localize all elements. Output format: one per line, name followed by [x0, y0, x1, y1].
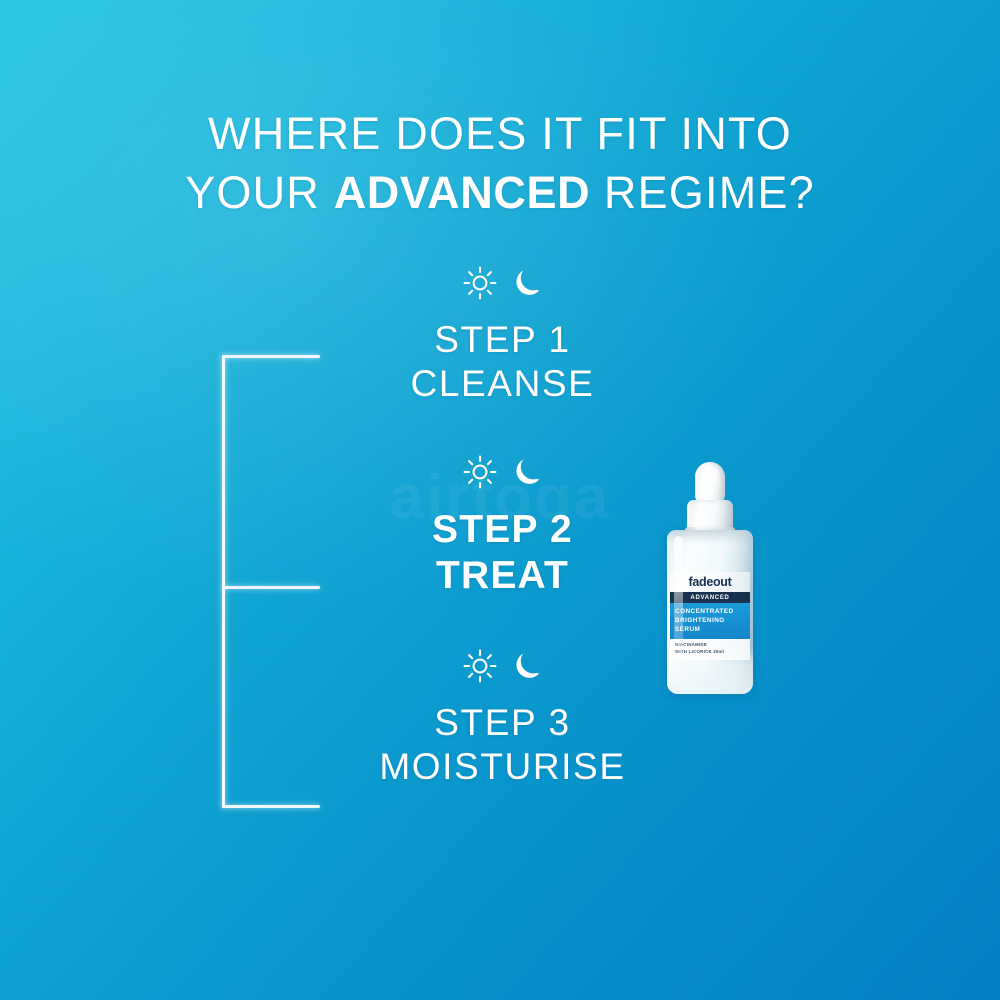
regime-step-treat: STEP 2 TREAT: [330, 449, 675, 599]
product-name-line-2: BRIGHTENING: [675, 616, 745, 625]
product-volume: WITH LICORICE 30ml: [675, 649, 745, 656]
step-2-label: STEP 2 TREAT: [330, 507, 675, 599]
product-bottle: fadeout ADVANCED CONCENTRATED BRIGHTENIN…: [662, 462, 758, 694]
step-2-icons: [330, 449, 675, 495]
product-ingredient: NIACINAMIDE: [675, 642, 745, 649]
moon-icon: [513, 650, 543, 682]
regime-step-moisturise: STEP 3 MOISTURISE: [330, 643, 675, 788]
headline-line-2-before: YOUR: [185, 167, 334, 218]
step-3-name: MOISTURISE: [330, 745, 675, 789]
moon-icon: [513, 267, 543, 299]
step-3-label: STEP 3 MOISTURISE: [330, 701, 675, 788]
product-range-band: ADVANCED: [670, 592, 750, 603]
step-1-icons: [330, 260, 675, 306]
headline-emphasis: ADVANCED: [334, 167, 590, 218]
bracket-tick-step-2: [222, 586, 320, 589]
dropper-cap: [687, 500, 733, 534]
sun-icon: [463, 649, 497, 683]
step-3-icons: [330, 643, 675, 689]
brand-logo: fadeout: [670, 572, 750, 592]
product-name-line-1: CONCENTRATED: [675, 607, 745, 616]
step-3-number: STEP 3: [330, 701, 675, 745]
page-title: WHERE DOES IT FIT INTO YOUR ADVANCED REG…: [0, 104, 1000, 223]
sun-icon: [463, 455, 497, 489]
product-name-line-3: SERUM: [675, 625, 745, 634]
bottle-glass-body: fadeout ADVANCED CONCENTRATED BRIGHTENIN…: [667, 530, 753, 694]
moon-icon: [513, 456, 543, 488]
step-1-label: STEP 1 CLEANSE: [330, 318, 675, 405]
regime-step-cleanse: STEP 1 CLEANSE: [330, 260, 675, 405]
product-name-band: CONCENTRATED BRIGHTENING SERUM: [670, 603, 750, 639]
step-1-name: CLEANSE: [330, 362, 675, 406]
step-1-number: STEP 1: [330, 318, 675, 362]
regime-step-list: STEP 1 CLEANSE: [330, 260, 675, 789]
dropper-bulb: [695, 462, 725, 504]
headline-line-2-after: REGIME?: [590, 167, 815, 218]
bracket-spine: [222, 355, 225, 808]
step-2-name: TREAT: [330, 553, 675, 599]
regime-bracket: [222, 355, 322, 808]
promo-graphic: airtoqa WHERE DOES IT FIT INTO YOUR ADVA…: [0, 0, 1000, 1000]
headline-line-1: WHERE DOES IT FIT INTO: [208, 108, 792, 159]
bracket-tick-step-3: [222, 805, 320, 808]
product-fine-print: NIACINAMIDE WITH LICORICE 30ml: [670, 639, 750, 659]
sun-icon: [463, 266, 497, 300]
bracket-tick-step-1: [222, 355, 320, 358]
product-label: fadeout ADVANCED CONCENTRATED BRIGHTENIN…: [670, 572, 750, 660]
step-2-number: STEP 2: [330, 507, 675, 553]
